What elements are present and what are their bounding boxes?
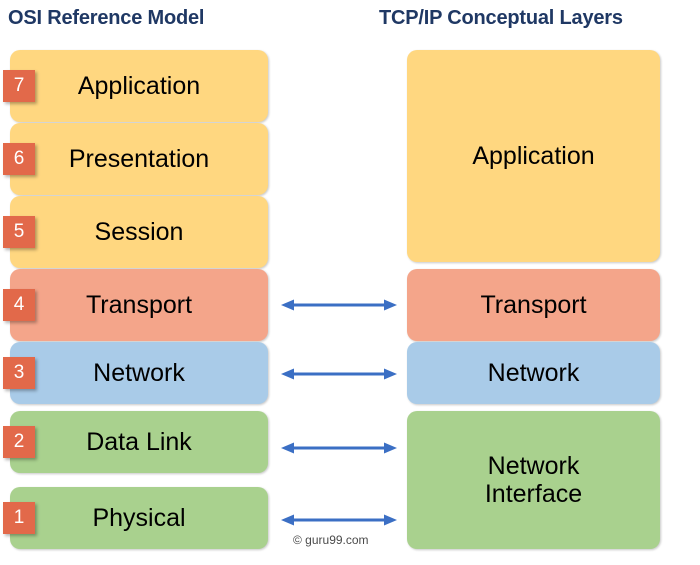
osi-layer-label: Physical [92, 504, 185, 532]
osi-layer-number-badge: 7 [3, 70, 35, 102]
tcpip-layer-label: Transport [480, 291, 586, 319]
mapping-arrow-transport [281, 298, 397, 312]
mapping-arrow-physical [281, 513, 397, 527]
osi-layer-label: Network [93, 359, 185, 387]
osi-layer-label: Data Link [86, 428, 192, 456]
osi-layer-presentation[interactable]: Presentation [10, 123, 268, 195]
double-arrow-icon [281, 441, 397, 455]
osi-layer-number-badge: 5 [3, 216, 35, 248]
osi-layer-label: Session [95, 218, 184, 246]
double-arrow-icon [281, 513, 397, 527]
double-arrow-icon [281, 298, 397, 312]
tcpip-layer-label: NetworkInterface [485, 452, 582, 508]
tcpip-layer-label: Application [472, 142, 594, 170]
osi-layer-number-badge: 2 [3, 426, 35, 458]
osi-tcpip-diagram: OSI Reference Model TCP/IP Conceptual La… [0, 0, 700, 565]
tcpip-layer-label: Network [488, 359, 580, 387]
tcpip-layer-network[interactable]: Network [407, 342, 660, 404]
osi-layer-number-badge: 1 [3, 502, 35, 534]
osi-layer-data-link[interactable]: Data Link [10, 411, 268, 473]
tcpip-layer-network-interface[interactable]: NetworkInterface [407, 411, 660, 549]
osi-layer-number-badge: 6 [3, 143, 35, 175]
watermark-credit: © guru99.com [293, 533, 369, 547]
osi-layer-label: Transport [86, 291, 192, 319]
osi-layer-label: Presentation [69, 145, 209, 173]
tcpip-layer-application[interactable]: Application [407, 50, 660, 262]
double-arrow-icon [281, 367, 397, 381]
tcpip-layer-transport[interactable]: Transport [407, 269, 660, 341]
osi-layer-application[interactable]: Application [10, 50, 268, 122]
tcpip-column-title: TCP/IP Conceptual Layers [379, 7, 623, 30]
osi-layer-session[interactable]: Session [10, 196, 268, 268]
mapping-arrow-network [281, 367, 397, 381]
osi-layer-transport[interactable]: Transport [10, 269, 268, 341]
osi-layer-number-badge: 4 [3, 289, 35, 321]
osi-column-title: OSI Reference Model [8, 7, 204, 30]
osi-layer-network[interactable]: Network [10, 342, 268, 404]
osi-layer-number-badge: 3 [3, 357, 35, 389]
osi-layer-physical[interactable]: Physical [10, 487, 268, 549]
mapping-arrow-data-link [281, 441, 397, 455]
osi-layer-label: Application [78, 72, 200, 100]
